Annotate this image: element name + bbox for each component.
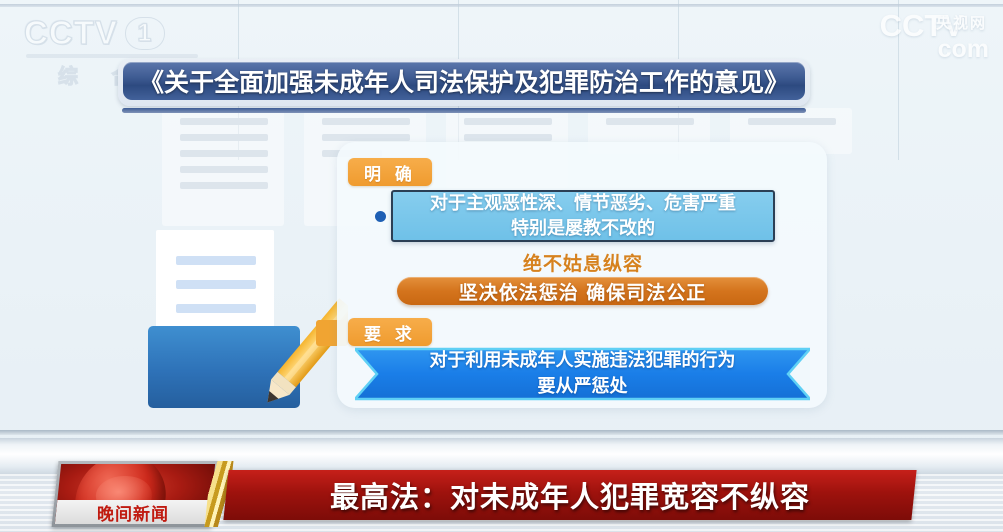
cctv-logo-text: CCTV: [24, 14, 118, 52]
section-tab-label: 要 求: [364, 320, 416, 345]
news-headline-text-wrap: 最高法：对未成年人犯罪宽容不纵容: [226, 470, 914, 520]
background-ghost-line: [322, 118, 410, 125]
broadcast-screen: CCTV 1 综 合 CCTV 央视网 com 《关于全面加强未成年人司法保护及…: [0, 0, 1003, 532]
program-logo-frame: 晚间新闻: [52, 461, 219, 527]
program-logo-inner: 晚间新闻: [55, 464, 215, 524]
watermark-chinese-text: 央视网: [936, 12, 987, 33]
lower-accent-rule: [0, 430, 1003, 435]
statement-line-2: 特别是屡教不改的: [511, 216, 655, 241]
requirement-ribbon: 对于利用未成年人实施违法犯罪的行为 要从严惩处: [355, 346, 810, 402]
emphasis-text: 绝不姑息纵容: [391, 249, 775, 276]
conclusion-pill: 坚决依法惩治 确保司法公正: [397, 277, 768, 305]
background-ghost-line: [180, 182, 268, 189]
cctv-channel-number: 1: [125, 17, 165, 50]
section-tab-yaoqiu: 要 求: [348, 318, 432, 346]
background-ghost-line: [464, 134, 552, 141]
title-banner-shadow-bar: [122, 108, 806, 113]
conclusion-pill-label: 坚决依法惩治 确保司法公正: [459, 278, 707, 305]
program-logo: 晚间新闻: [55, 461, 215, 527]
top-divider-rule: [0, 4, 1003, 7]
watermark-domain-text: com: [938, 37, 989, 62]
background-ghost-line: [180, 166, 268, 173]
background-ghost-line: [322, 134, 410, 141]
background-ghost-line: [464, 118, 552, 125]
background-ghost-line: [606, 118, 694, 125]
background-ghost-line: [180, 134, 268, 141]
background-ghost-line: [180, 150, 268, 157]
program-name-strip: 晚间新闻: [55, 500, 212, 524]
news-headline-text: 最高法：对未成年人犯罪宽容不纵容: [330, 474, 810, 516]
bullet-point-marker: [375, 211, 386, 222]
document-title-banner: 《关于全面加强未成年人司法保护及犯罪防治工作的意见》: [118, 59, 810, 113]
program-name-label: 晚间新闻: [97, 500, 169, 525]
background-ghost-line: [180, 118, 268, 125]
cctv-logo-underbar: [26, 54, 198, 58]
document-pencil-illustration: [148, 228, 348, 413]
page-title: 《关于全面加强未成年人司法保护及犯罪防治工作的意见》: [139, 63, 789, 99]
ribbon-shape: [355, 346, 810, 402]
background-ghost-line: [748, 118, 836, 125]
title-banner-bar: 《关于全面加强未成年人司法保护及犯罪防治工作的意见》: [123, 62, 805, 100]
section-tab-mingque: 明 确: [348, 158, 432, 186]
cctv-com-watermark: CCTV 央视网 com: [880, 10, 989, 62]
statement-line-1: 对于主观恶性深、情节恶劣、危害严重: [430, 191, 736, 216]
statement-box: 对于主观恶性深、情节恶劣、危害严重 特别是屡教不改的: [391, 190, 775, 242]
title-banner-frame: 《关于全面加强未成年人司法保护及犯罪防治工作的意见》: [118, 59, 810, 106]
section-tab-label: 明 确: [364, 160, 416, 185]
